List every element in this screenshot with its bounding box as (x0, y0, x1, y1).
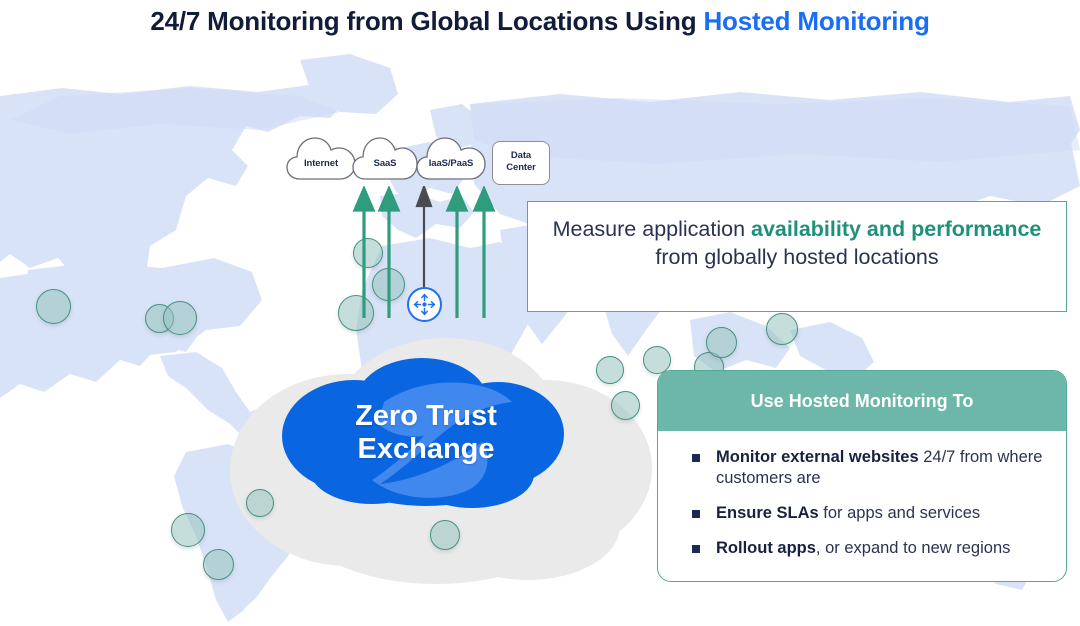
expand-arrows-icon[interactable] (407, 287, 442, 322)
use-panel-bullet: Monitor external websites 24/7 from wher… (684, 447, 1046, 489)
destination-nodes: Internet SaaS IaaS/PaaS Data Center (285, 133, 575, 191)
use-panel-bullet-list: Monitor external websites 24/7 from wher… (658, 431, 1066, 559)
node-saas-label: SaaS (351, 159, 419, 170)
node-saas[interactable]: SaaS (351, 133, 419, 191)
map-marker[interactable] (203, 549, 234, 580)
arrow-to-datacenter-a (448, 189, 466, 318)
use-panel-bullet-bold: Rollout apps (716, 539, 816, 557)
use-panel-bullet-bold: Monitor external websites (716, 448, 919, 466)
node-data-center[interactable]: Data Center (492, 133, 550, 191)
use-hosted-monitoring-panel: Use Hosted Monitoring To Monitor externa… (657, 370, 1067, 582)
use-panel-bullet: Ensure SLAs for apps and services (684, 503, 1046, 524)
node-internet[interactable]: Internet (285, 133, 357, 191)
measure-text-part1: Measure application (553, 217, 751, 241)
use-panel-heading: Use Hosted Monitoring To (658, 371, 1066, 431)
arrow-to-internet (355, 189, 373, 318)
expand-arrows-glyph (409, 289, 440, 320)
map-marker[interactable] (163, 301, 197, 335)
map-marker[interactable] (706, 327, 737, 358)
arrow-to-iaas-paas (417, 187, 431, 294)
map-marker[interactable] (766, 313, 798, 345)
node-data-center-label-line1: Data (492, 151, 550, 162)
node-data-center-label-line2: Center (492, 163, 550, 174)
use-panel-bullet-rest: , or expand to new regions (816, 539, 1010, 557)
map-marker[interactable] (430, 520, 460, 550)
map-marker[interactable] (246, 489, 274, 517)
arrow-to-datacenter-b (475, 189, 493, 318)
measure-callout: Measure application availability and per… (527, 201, 1067, 312)
slide-canvas: 24/7 Monitoring from Global Locations Us… (0, 0, 1080, 626)
node-iaas-paas-label: IaaS/PaaS (415, 159, 487, 170)
arrow-to-saas (380, 189, 398, 318)
map-marker[interactable] (36, 289, 71, 324)
use-panel-bullet: Rollout apps, or expand to new regions (684, 538, 1046, 559)
map-marker[interactable] (596, 356, 624, 384)
zero-trust-exchange-cloud[interactable] (276, 358, 576, 510)
measure-callout-text: Measure application availability and per… (528, 202, 1066, 272)
use-panel-bullet-rest: for apps and services (819, 504, 980, 522)
node-internet-label: Internet (285, 159, 357, 170)
map-marker[interactable] (171, 513, 205, 547)
use-panel-bullet-bold: Ensure SLAs (716, 504, 819, 522)
map-marker[interactable] (611, 391, 640, 420)
measure-text-bold: availability and performance (751, 217, 1041, 241)
measure-text-part2: from globally hosted locations (655, 245, 938, 269)
node-iaas-paas[interactable]: IaaS/PaaS (415, 133, 487, 191)
